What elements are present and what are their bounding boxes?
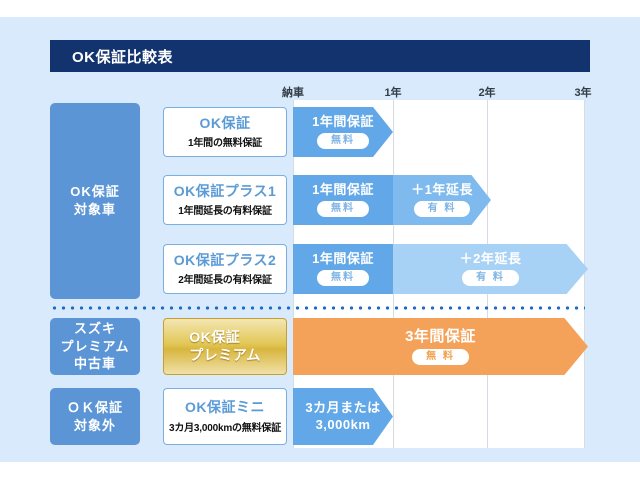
- bar-label: 1年間保証: [312, 183, 374, 198]
- timeline-tick-year2: 2年: [478, 84, 495, 100]
- plan-name-line1: OK保証: [189, 329, 240, 345]
- bar-badge-free: 無料: [317, 270, 369, 286]
- page-title: OK保証比較表: [50, 46, 173, 67]
- category-label-line3: 中古車: [74, 356, 116, 371]
- bar-label: 3カ月または 3,000km: [305, 400, 380, 433]
- plan-name: OK保証プラス2: [174, 252, 277, 269]
- plan-card-ok-warranty-mini[interactable]: OK保証ミニ 3カ月3,000kmの無料保証: [163, 388, 287, 445]
- category-label: OK保証 対象車: [70, 183, 120, 218]
- timeline-tick-year3: 3年: [574, 84, 591, 100]
- category-ok-warranty-eligible: OK保証 対象車: [50, 103, 140, 299]
- bar-label: 3年間保証: [405, 328, 476, 345]
- category-label: ＯＫ保証 対象外: [67, 399, 123, 434]
- timeline-tick-delivery: 納車: [282, 84, 304, 100]
- comparison-chart-page: OK保証比較表 納車 1年 2年 3年 OK保証 対象車 OK保証 1年間の無料…: [0, 0, 640, 480]
- plan-name-line2: プレミアム: [189, 347, 261, 363]
- category-label-line1: ＯＫ保証: [67, 400, 123, 415]
- category-not-eligible: ＯＫ保証 対象外: [50, 388, 140, 445]
- bar-label: 1年間保証: [312, 252, 374, 267]
- title-bar: OK保証比較表: [50, 40, 590, 72]
- category-label-line2: 対象外: [74, 418, 116, 433]
- plan-name: OK保証ミニ: [185, 399, 265, 416]
- category-label-line1: OK保証: [70, 184, 120, 199]
- bar-ok-warranty-year1: 1年間保証 無料: [293, 107, 393, 157]
- bar-label: ＋1年延長: [411, 183, 473, 198]
- bar-badge-free: 無料: [317, 133, 369, 149]
- bar-label: ＋2年延長: [460, 252, 522, 267]
- plan-name: OK保証 プレミアム: [189, 329, 261, 364]
- plan-card-ok-warranty-plus1[interactable]: OK保証プラス1 1年間延長の有料保証: [163, 175, 287, 225]
- plan-description: 3カ月3,000kmの無料保証: [169, 419, 281, 434]
- bar-label-line1: 3カ月または: [305, 400, 380, 415]
- plan-card-ok-warranty-premium[interactable]: OK保証 プレミアム: [163, 318, 287, 375]
- plan-description: 1年間延長の有料保証: [178, 202, 272, 217]
- bar-badge-paid: 有 料: [462, 270, 519, 286]
- plan-card-ok-warranty-plus2[interactable]: OK保証プラス2 2年間延長の有料保証: [163, 244, 287, 294]
- bar-plus2-year1: 1年間保証 無料: [293, 244, 393, 294]
- gridline-year3: [584, 100, 585, 448]
- bar-premium-3year: 3年間保証 無 料: [293, 318, 588, 375]
- plan-description: 2年間延長の有料保証: [178, 271, 272, 286]
- timeline-axis: 納車 1年 2年 3年: [293, 84, 585, 98]
- bar-badge-paid: 有 料: [414, 201, 471, 217]
- bar-plus2-extension: ＋2年延長 有 料: [393, 244, 588, 294]
- category-suzuki-premium-used: スズキ プレミアム 中古車: [50, 318, 140, 375]
- category-label-line2: プレミアム: [60, 339, 129, 354]
- bar-label: 1年間保証: [312, 115, 374, 130]
- bar-plus1-year1: 1年間保証 無料: [293, 175, 393, 225]
- plan-name: OK保証プラス1: [174, 183, 277, 200]
- plan-card-ok-warranty[interactable]: OK保証 1年間の無料保証: [163, 107, 287, 157]
- timeline-tick-year1: 1年: [384, 84, 401, 100]
- category-label: スズキ プレミアム 中古車: [60, 320, 129, 373]
- plan-name: OK保証: [200, 115, 251, 132]
- plan-description: 1年間の無料保証: [188, 134, 262, 149]
- bar-badge-free: 無料: [317, 201, 369, 217]
- category-label-line1: スズキ: [74, 321, 116, 336]
- bar-mini-3month: 3カ月または 3,000km: [293, 388, 393, 445]
- category-label-line2: 対象車: [74, 202, 116, 217]
- bar-plus1-extension: ＋1年延長 有 料: [393, 175, 491, 225]
- section-divider: [50, 306, 585, 310]
- bar-label-line2: 3,000km: [316, 417, 371, 432]
- bar-badge-free: 無 料: [412, 349, 469, 365]
